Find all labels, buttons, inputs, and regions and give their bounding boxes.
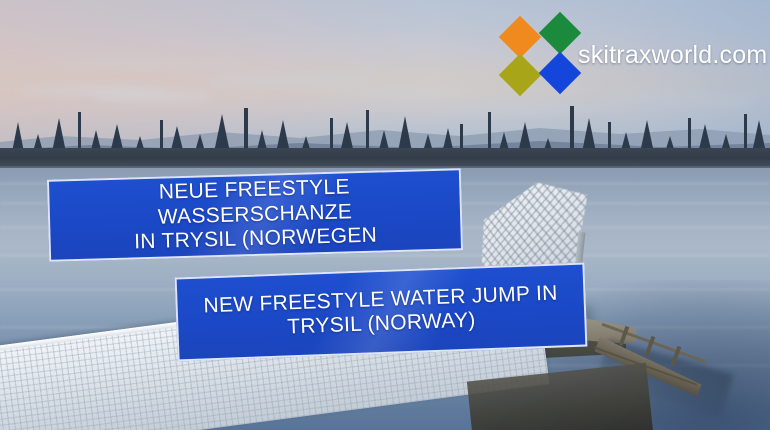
logo-diamond-orange-icon	[499, 16, 541, 58]
cloud-band	[40, 60, 250, 67]
banner-german: NEUE FREESTYLE WASSERSCHANZE IN TRYSIL (…	[47, 168, 463, 262]
cloud-band	[205, 76, 375, 84]
logo-diamond-olive-icon	[499, 54, 541, 96]
logo-diamond-green-icon	[539, 12, 581, 54]
site-name-watermark: skitraxworld.com	[578, 41, 767, 70]
screenshot-canvas: skitraxworld.com NEUE FREESTYLE WASSERSC…	[0, 0, 770, 430]
logo-diamond-blue-icon	[539, 52, 581, 94]
cloud-band	[330, 90, 470, 97]
banner-english: NEW FREESTYLE WATER JUMP IN TRYSIL (NORW…	[175, 263, 588, 362]
site-logo[interactable]	[503, 16, 579, 92]
cloud-band	[92, 93, 212, 100]
